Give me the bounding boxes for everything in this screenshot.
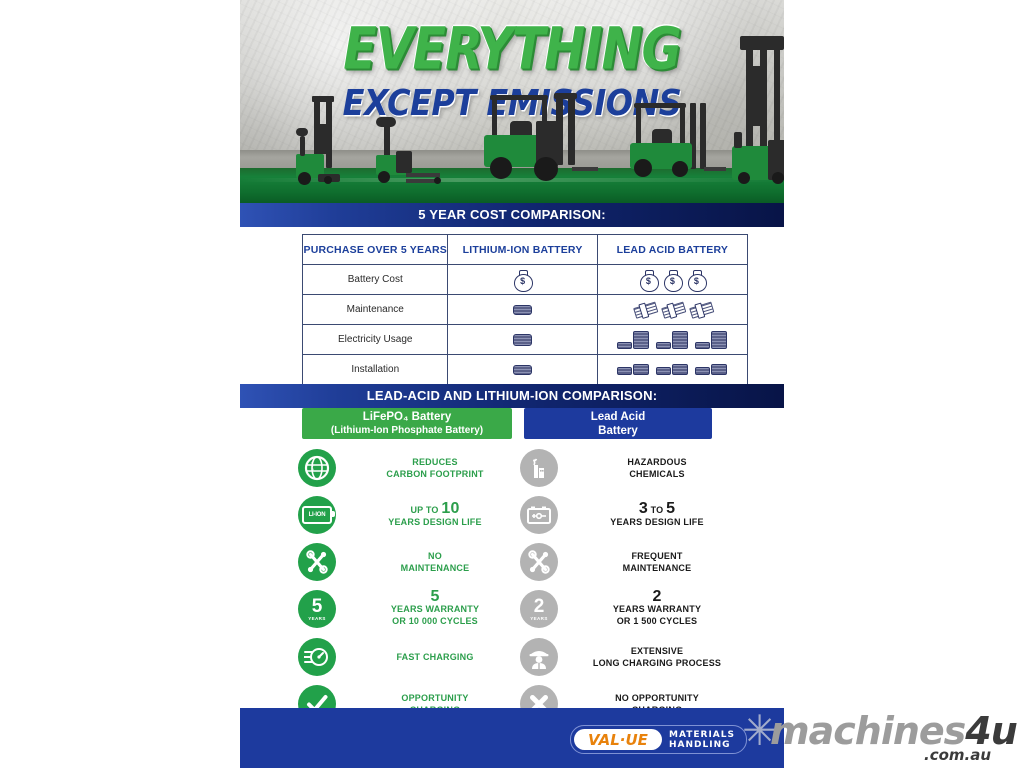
feature-number: 10: [441, 500, 459, 517]
crossed-wrenches-icon: [298, 543, 336, 581]
five-years-badge-icon: 5 YEARS: [298, 590, 336, 628]
feature-line1: NO OPPORTUNITY: [562, 692, 752, 704]
cell-lithium-installation: [448, 355, 597, 385]
feature-line2: YEARS WARRANTY: [340, 603, 530, 615]
cash-bundle-icon: [688, 300, 712, 319]
forklift-walkie-stacker: [288, 96, 348, 191]
cash-bundle-icon: [660, 300, 684, 319]
feature-warranty-lithium: 5 YEARS 5 YEARS WARRANTY OR 10 000 CYCLE…: [298, 589, 530, 629]
lead-acid-feature-list: HAZARDOUS CHEMICALS: [520, 448, 752, 731]
coin-stack-icon: [617, 364, 649, 375]
lead-acid-header-line2: Battery: [598, 424, 638, 438]
feature-text: 2 YEARS WARRANTY OR 1 500 CYCLES: [558, 591, 752, 627]
feature-line1: REDUCES: [340, 456, 530, 468]
lead-acid-column-header: Lead Acid Battery: [524, 408, 712, 439]
hero-image: EVERYTHING EXCEPT EMISSIONS: [240, 0, 784, 203]
li-ion-badge-label: LI-ION: [309, 512, 326, 518]
feature-number-2: 5: [666, 500, 675, 517]
cell-lead-installation: [597, 355, 747, 385]
li-ion-battery-icon: LI-ION: [298, 496, 336, 534]
feature-no-maintenance: NO MAINTENANCE: [298, 542, 530, 582]
logo-value-wordmark: VAL·UE: [574, 729, 662, 750]
feature-line1: NO: [340, 550, 530, 562]
feature-text: FAST CHARGING: [336, 651, 530, 663]
coin-stack-icon: [695, 364, 727, 375]
table-row: Electricity Usage: [303, 325, 748, 355]
column-header-lithium: LITHIUM-ION BATTERY: [448, 235, 597, 265]
money-bag-icon: $: [640, 270, 657, 290]
coin-stack-icon: [513, 365, 532, 375]
feature-text: REDUCES CARBON FOOTPRINT: [336, 456, 530, 480]
feature-line2: LONG CHARGING PROCESS: [562, 657, 752, 669]
forklift-counterbalance-center: [480, 91, 600, 191]
forklift-reach-truck: [732, 36, 784, 191]
lifepo4-header-line2: (Lithium-Ion Phosphate Battery): [331, 424, 483, 438]
lifepo4-column-header: LiFePO₄ Battery (Lithium-Ion Phosphate B…: [302, 408, 512, 439]
feature-hazardous-chemicals: HAZARDOUS CHEMICALS: [520, 448, 752, 488]
feature-line1: FAST CHARGING: [340, 651, 530, 663]
footer-bar: VAL·UE MATERIALS HANDLING: [240, 708, 784, 768]
money-bag-icon: $: [664, 270, 681, 290]
lead-acid-header-line1: Lead Acid: [591, 410, 646, 424]
table-row: Installation: [303, 355, 748, 385]
worker-helmet-icon: [520, 638, 558, 676]
feature-line1: EXTENSIVE: [562, 645, 752, 657]
row-label-battery-cost: Battery Cost: [303, 265, 448, 295]
feature-line2: MAINTENANCE: [340, 562, 530, 574]
cash-bundle-icon: [513, 305, 532, 315]
feature-text: HAZARDOUS CHEMICALS: [558, 456, 752, 480]
row-label-installation: Installation: [303, 355, 448, 385]
watermark-u: u: [991, 709, 1017, 753]
feature-line2: YEARS DESIGN LIFE: [562, 516, 752, 528]
feature-line3: OR 1 500 CYCLES: [562, 615, 752, 627]
feature-line1: OPPORTUNITY: [340, 692, 530, 704]
cell-lead-maintenance: [597, 295, 747, 325]
feature-text: FREQUENT MAINTENANCE: [558, 550, 752, 574]
feature-line2: CHEMICALS: [562, 468, 752, 480]
logo-tagline: MATERIALS HANDLING: [662, 730, 746, 750]
logo-tagline-line2: HANDLING: [669, 740, 746, 750]
forklift-three-wheel-electric: [628, 101, 728, 191]
feature-fast-charging: FAST CHARGING: [298, 637, 530, 677]
badge-sublabel: YEARS: [530, 617, 548, 622]
cell-lithium-battery-cost: $: [448, 265, 597, 295]
table-row: Battery Cost $ $ $ $: [303, 265, 748, 295]
cell-lead-battery-cost: $ $ $: [597, 265, 747, 295]
feature-midword: TO: [651, 505, 664, 515]
feature-number: 2: [562, 591, 752, 603]
feature-design-life-lead: 3 TO 5 YEARS DESIGN LIFE: [520, 495, 752, 535]
cell-lead-electricity: [597, 325, 747, 355]
feature-prefix: UP TO: [410, 505, 438, 515]
feature-line2: YEARS WARRANTY: [562, 603, 752, 615]
row-label-maintenance: Maintenance: [303, 295, 448, 325]
lifepo4-header-line1: LiFePO₄ Battery: [363, 410, 452, 424]
feature-text: 5 YEARS WARRANTY OR 10 000 CYCLES: [336, 591, 530, 627]
column-header-lead-acid: LEAD ACID BATTERY: [597, 235, 747, 265]
feature-line1: FREQUENT: [562, 550, 752, 562]
cost-comparison-table: PURCHASE OVER 5 YEARS LITHIUM-ION BATTER…: [302, 234, 748, 385]
coin-stack-icon: [656, 364, 688, 375]
lifepo4-feature-list: REDUCES CARBON FOOTPRINT LI-ION UP TO 10: [298, 448, 530, 731]
cell-lithium-maintenance: [448, 295, 597, 325]
feature-line2: MAINTENANCE: [562, 562, 752, 574]
money-bag-icon: $: [514, 270, 531, 290]
feature-line2: YEARS DESIGN LIFE: [340, 516, 530, 528]
feature-text: UP TO 10 YEARS DESIGN LIFE: [336, 503, 530, 528]
fast-charge-speedometer-icon: [298, 638, 336, 676]
cash-bundle-icon: [632, 300, 656, 319]
feature-line1: HAZARDOUS: [562, 456, 752, 468]
table-header-row: PURCHASE OVER 5 YEARS LITHIUM-ION BATTER…: [303, 235, 748, 265]
feature-line3: OR 10 000 CYCLES: [340, 615, 530, 627]
feature-reduces-carbon-footprint: REDUCES CARBON FOOTPRINT: [298, 448, 530, 488]
feature-design-life-lithium: LI-ION UP TO 10 YEARS DESIGN LIFE: [298, 495, 530, 535]
row-label-electricity-usage: Electricity Usage: [303, 325, 448, 355]
badge-number: 5: [312, 597, 323, 616]
infographic-page: EVERYTHING EXCEPT EMISSIONS: [0, 0, 1024, 768]
badge-sublabel: YEARS: [308, 617, 326, 622]
table-row: Maintenance: [303, 295, 748, 325]
cell-lithium-electricity: [448, 325, 597, 355]
feature-line2: CARBON FOOTPRINT: [340, 468, 530, 480]
forklift-pallet-truck: [370, 121, 442, 191]
watermark-domain: .com.au: [924, 746, 991, 764]
banner-lead-acid-lithium-comparison: LEAD-ACID AND LITHIUM-ION COMPARISON:: [240, 384, 784, 408]
comparison-section: LiFePO₄ Battery (Lithium-Ion Phosphate B…: [240, 408, 784, 708]
lead-acid-battery-icon: [520, 496, 558, 534]
feature-long-charging-process: EXTENSIVE LONG CHARGING PROCESS: [520, 637, 752, 677]
feature-text: 3 TO 5 YEARS DESIGN LIFE: [558, 503, 752, 528]
coin-stack-icon: [617, 331, 649, 349]
coin-stack-icon: [695, 331, 727, 349]
globe-icon: [298, 449, 336, 487]
value-materials-handling-logo: VAL·UE MATERIALS HANDLING: [570, 725, 747, 754]
banner-cost-comparison: 5 YEAR COST COMPARISON:: [240, 203, 784, 227]
factory-smokestack-icon: [520, 449, 558, 487]
feature-text: EXTENSIVE LONG CHARGING PROCESS: [558, 645, 752, 669]
feature-text: NO MAINTENANCE: [336, 550, 530, 574]
two-years-badge-icon: 2 YEARS: [520, 590, 558, 628]
crossed-wrenches-icon: [520, 543, 558, 581]
badge-number: 2: [534, 597, 545, 616]
feature-frequent-maintenance: FREQUENT MAINTENANCE: [520, 542, 752, 582]
column-header-purchase: PURCHASE OVER 5 YEARS: [303, 235, 448, 265]
feature-number: 3: [639, 500, 648, 517]
feature-number: 5: [340, 591, 530, 603]
logo-tagline-line1: MATERIALS: [669, 730, 746, 740]
feature-warranty-lead: 2 YEARS 2 YEARS WARRANTY OR 1 500 CYCLES: [520, 589, 752, 629]
hero-title-line1: EVERYTHING: [240, 20, 784, 78]
coin-stack-icon: [513, 334, 532, 346]
machines4u-watermark: ✳ machines4u .com.au: [742, 706, 1024, 768]
watermark-wordmark: machines4u: [770, 712, 1017, 750]
feature-line1: 3 TO 5: [562, 503, 752, 516]
feature-line1: UP TO 10: [340, 503, 530, 516]
coin-stack-icon: [656, 331, 688, 349]
money-bag-icon: $: [688, 270, 705, 290]
